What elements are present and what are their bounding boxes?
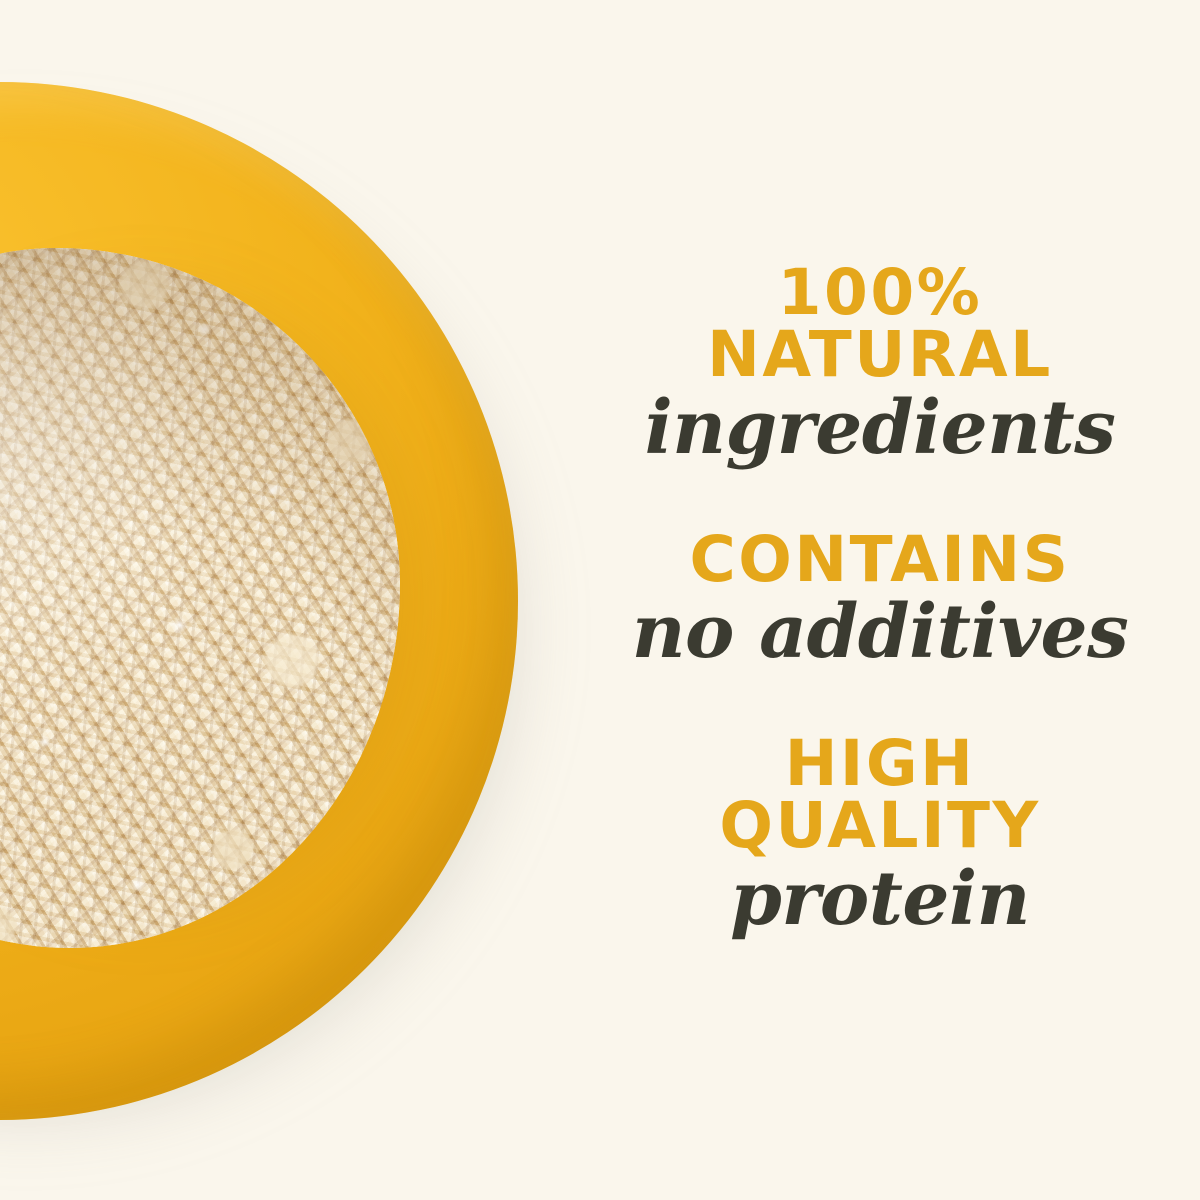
claim-headline: HIGH QUALITY — [560, 733, 1200, 856]
claim-script: protein — [560, 861, 1200, 938]
product-claims-graphic: 100% NATURAL ingredients CONTAINS no add… — [0, 0, 1200, 1200]
claims-copy-panel: 100% NATURAL ingredients CONTAINS no add… — [560, 0, 1200, 1200]
claim-script: no additives — [560, 594, 1200, 671]
claim-headline: 100% NATURAL — [560, 262, 1200, 385]
mound-volume-shading — [0, 248, 400, 948]
food-photo-panel — [0, 0, 600, 1200]
shredded-chicken-mound — [0, 248, 400, 948]
claim-headline: CONTAINS — [560, 529, 1200, 591]
claim-script: ingredients — [560, 390, 1200, 467]
claim-no-additives: CONTAINS no additives — [560, 529, 1200, 672]
claim-high-quality-protein: HIGH QUALITY protein — [560, 733, 1200, 937]
claim-natural-ingredients: 100% NATURAL ingredients — [560, 262, 1200, 466]
